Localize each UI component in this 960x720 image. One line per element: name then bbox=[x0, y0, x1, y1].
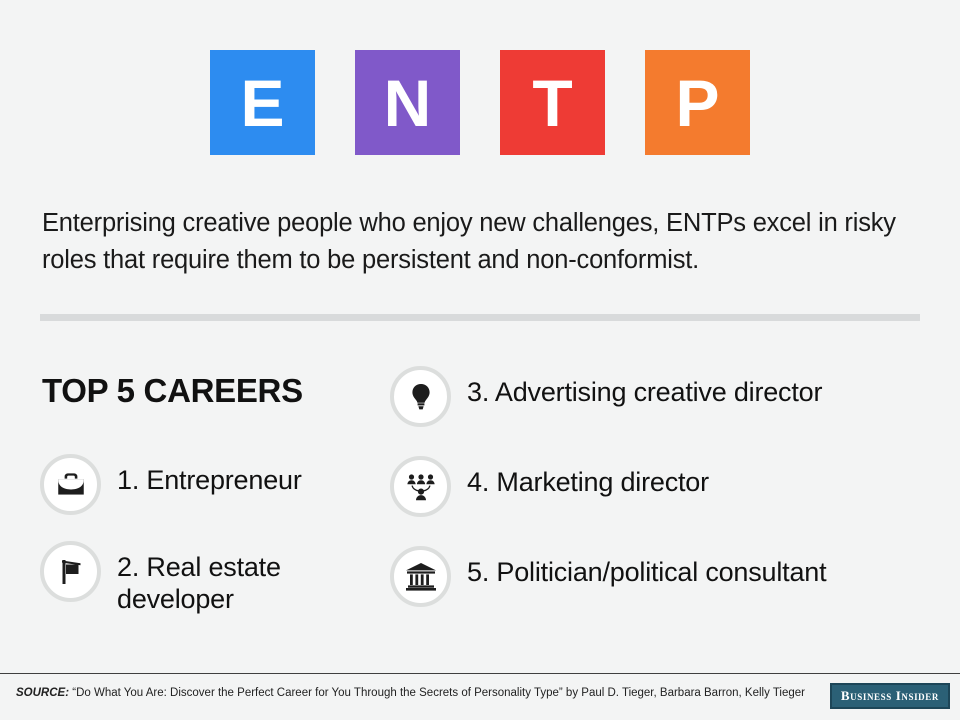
type-letter-t: T bbox=[532, 70, 572, 136]
type-letter-tile-p: P bbox=[645, 50, 750, 155]
type-letter-tile-e: E bbox=[210, 50, 315, 155]
type-letter-tile-t: T bbox=[500, 50, 605, 155]
footer-bar: SOURCE: “Do What You Are: Discover the P… bbox=[0, 673, 960, 720]
type-letter-e: E bbox=[240, 70, 284, 136]
careers-column-left: TOP 5 CAREERS 1. Entrepreneur bbox=[40, 350, 385, 630]
for-sale-sign-icon bbox=[40, 541, 101, 602]
type-code-row: E N T P bbox=[0, 50, 960, 155]
org-chart-icon bbox=[390, 456, 451, 517]
career-label-2: 2. Real estate developer bbox=[117, 541, 347, 616]
business-insider-logo: Business Insider bbox=[830, 683, 950, 709]
careers-heading: TOP 5 CAREERS bbox=[42, 372, 385, 410]
career-label-4: 4. Marketing director bbox=[467, 456, 709, 499]
career-label-1: 1. Entrepreneur bbox=[117, 454, 302, 497]
career-item-2: 2. Real estate developer bbox=[40, 541, 385, 616]
type-description: Enterprising creative people who enjoy n… bbox=[42, 205, 902, 279]
type-letter-p: P bbox=[675, 70, 719, 136]
careers-column-right: 3. Advertising creative director bbox=[390, 350, 950, 621]
career-label-5: 5. Politician/political consultant bbox=[467, 546, 826, 589]
career-label-3: 3. Advertising creative director bbox=[467, 366, 822, 409]
source-label: SOURCE: bbox=[16, 687, 69, 699]
government-building-icon bbox=[390, 546, 451, 607]
source-text: “Do What You Are: Discover the Perfect C… bbox=[72, 687, 805, 699]
type-letter-n: N bbox=[384, 70, 432, 136]
type-letter-tile-n: N bbox=[355, 50, 460, 155]
career-item-3: 3. Advertising creative director bbox=[390, 366, 950, 427]
lightbulb-icon bbox=[390, 366, 451, 427]
briefcase-icon bbox=[40, 454, 101, 515]
section-divider bbox=[40, 314, 920, 321]
career-item-1: 1. Entrepreneur bbox=[40, 454, 385, 515]
career-item-5: 5. Politician/political consultant bbox=[390, 546, 950, 607]
careers-section: TOP 5 CAREERS 1. Entrepreneur bbox=[0, 350, 960, 650]
career-item-4: 4. Marketing director bbox=[390, 456, 950, 517]
source-credit: SOURCE: “Do What You Are: Discover the P… bbox=[16, 687, 805, 699]
